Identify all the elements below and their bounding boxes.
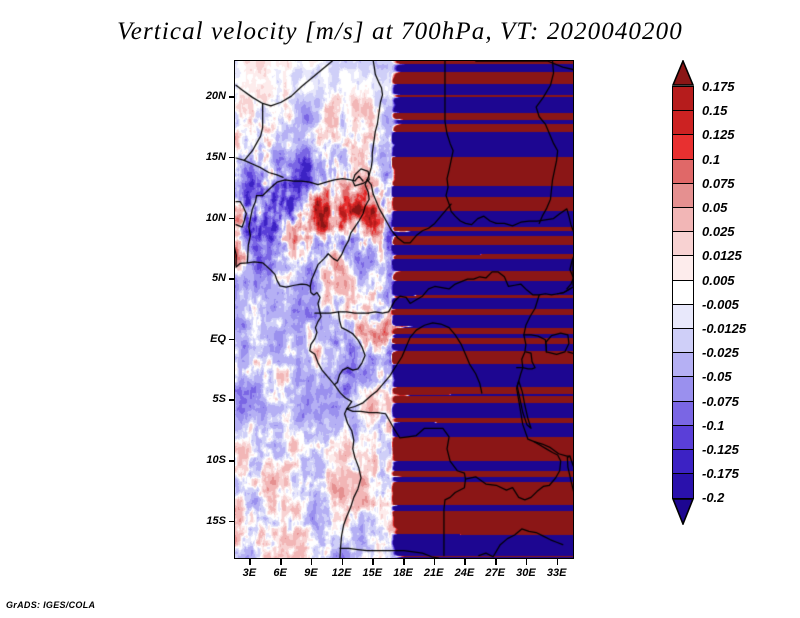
lat-tick-mark	[229, 521, 235, 523]
colorbar-tick-label: 0.005	[702, 274, 735, 287]
country-boundaries-overlay	[235, 61, 573, 558]
colorbar-tick-label: -0.2	[702, 491, 724, 504]
colorbar-swatch	[672, 134, 694, 160]
colorbar-swatch	[672, 473, 694, 499]
colorbar-tick-label: -0.005	[702, 298, 739, 311]
colorbar-tick-label: 0.05	[702, 201, 727, 214]
colorbar-swatch	[672, 401, 694, 427]
lon-tick-mark	[311, 559, 313, 565]
colorbar-tick-label: -0.1	[702, 419, 724, 432]
lon-tick-mark	[249, 559, 251, 565]
colorbar-tick-label: 0.175	[702, 80, 735, 93]
lat-tick-label-15n: 15N	[186, 151, 226, 163]
colorbar-tick-label: 0.125	[702, 128, 735, 141]
colorbar-swatch	[672, 328, 694, 354]
colorbar-tick-label: 0.075	[702, 177, 735, 190]
colorbar-swatch	[672, 231, 694, 257]
colorbar-swatch	[672, 376, 694, 402]
map-plot-area	[234, 60, 574, 559]
colorbar-swatch	[672, 110, 694, 136]
lon-tick-mark	[280, 559, 282, 565]
lat-tick-label-eq: EQ	[186, 333, 226, 345]
colorbar-swatch	[672, 352, 694, 378]
lon-tick-mark	[434, 559, 436, 565]
lat-tick-label-20n: 20N	[186, 90, 226, 102]
colorbar-swatch	[672, 280, 694, 306]
colorbar-tick-label: -0.125	[702, 443, 739, 456]
lon-tick-mark	[526, 559, 528, 565]
lat-tick-mark	[229, 399, 235, 401]
colorbar-tick-label: 0.0125	[702, 249, 742, 262]
lat-tick-label-5s: 5S	[186, 393, 226, 405]
lon-tick-mark	[403, 559, 405, 565]
lat-tick-mark	[229, 460, 235, 462]
lat-tick-mark	[229, 339, 235, 341]
colorbar-swatch	[672, 159, 694, 185]
colorbar-tick-label: 0.025	[702, 225, 735, 238]
colorbar-tick-label: -0.05	[702, 370, 732, 383]
colorbar-swatch	[672, 449, 694, 475]
lat-tick-label-10n: 10N	[186, 212, 226, 224]
lon-tick-mark	[464, 559, 466, 565]
lat-tick-mark	[229, 157, 235, 159]
lat-tick-label-15s: 15S	[186, 515, 226, 527]
lon-tick-mark	[372, 559, 374, 565]
colorbar-tick-label: -0.175	[702, 467, 739, 480]
colorbar-swatch	[672, 207, 694, 233]
colorbar-min-arrow-icon	[672, 497, 694, 523]
colorbar-swatch	[672, 86, 694, 112]
lon-tick-mark	[342, 559, 344, 565]
lat-tick-label-10s: 10S	[186, 454, 226, 466]
colorbar-tick-label: 0.1	[702, 153, 720, 166]
page-title: Vertical velocity [m/s] at 700hPa, VT: 2…	[0, 18, 800, 46]
colorbar-tick-label: -0.0125	[702, 322, 746, 335]
colorbar-tick-label: -0.075	[702, 395, 739, 408]
colorbar-tick-label: 0.15	[702, 104, 727, 117]
lat-tick-mark	[229, 278, 235, 280]
colorbar-swatch	[672, 255, 694, 281]
lat-tick-mark	[229, 96, 235, 98]
lon-tick-mark	[557, 559, 559, 565]
colorbar-swatch	[672, 183, 694, 209]
lat-tick-label-5n: 5N	[186, 272, 226, 284]
colorbar-swatch	[672, 425, 694, 451]
lat-tick-mark	[229, 218, 235, 220]
lon-tick-label-33e: 33E	[537, 567, 577, 579]
footer-credit: GrADS: IGES/COLA	[6, 600, 95, 610]
lon-tick-mark	[495, 559, 497, 565]
colorbar-swatch	[672, 304, 694, 330]
colorbar-tick-label: -0.025	[702, 346, 739, 359]
colorbar-max-arrow-icon	[672, 60, 694, 86]
